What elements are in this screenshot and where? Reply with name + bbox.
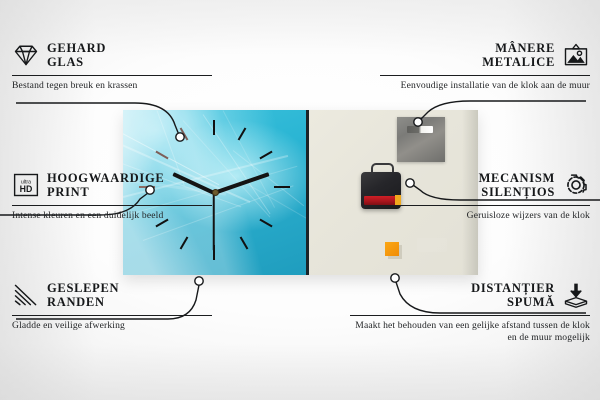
orange-foam-spacer xyxy=(385,242,399,256)
feature-geslepen-randen: GESLEPEN RANDEN Gladde en veilige afwerk… xyxy=(12,278,212,332)
divider xyxy=(380,205,590,206)
feature-distantier-spuma: DISTANȚIER SPUMĂ Maakt het behouden van … xyxy=(350,278,590,344)
feature-manere-metalice: MÂNERE METALICE Eenvoudige installatie v… xyxy=(380,38,590,92)
clock-mark xyxy=(155,151,168,160)
divider xyxy=(350,315,590,316)
svg-text:HD: HD xyxy=(20,184,33,194)
divider xyxy=(12,75,212,76)
infographic-canvas: GEHARD GLAS Bestand tegen breuk en krass… xyxy=(0,0,600,400)
feature-header: MÂNERE METALICE xyxy=(380,38,590,72)
clock-mark xyxy=(238,127,247,140)
gear-icon xyxy=(562,172,590,198)
feature-title: MECANISM SILENȚIOS xyxy=(479,171,555,199)
feature-header: GESLEPEN RANDEN xyxy=(12,278,212,312)
clock-mark xyxy=(240,236,249,249)
feature-header: GEHARD GLAS xyxy=(12,38,212,72)
ultra-hd-icon: ultra HD xyxy=(12,172,40,198)
metal-hanger-plate xyxy=(397,117,445,162)
feature-header: ultra HD HOOGWAARDIGE PRINT xyxy=(12,168,212,202)
feature-header: DISTANȚIER SPUMĂ xyxy=(350,278,590,312)
feature-description: Bestand tegen breuk en krassen xyxy=(12,80,212,92)
feature-title: MÂNERE METALICE xyxy=(482,41,555,69)
beveled-edge-icon xyxy=(12,282,40,308)
clock-mark xyxy=(213,120,215,135)
feature-description: Eenvoudige installatie van de klok aan d… xyxy=(380,80,590,92)
picture-hanger-icon xyxy=(562,42,590,68)
clock-mark xyxy=(259,219,272,228)
clock-second-hand xyxy=(213,193,215,251)
feature-description: Maakt het behouden van een gelijke afsta… xyxy=(350,320,590,344)
hanger-slot xyxy=(407,126,433,133)
feature-description: Geruisloze wijzers van de klok xyxy=(380,210,590,222)
feature-mecanism-silentios: MECANISM SILENȚIOS Geruisloze wijzers va… xyxy=(380,168,590,222)
feature-hoogwaardige-print: ultra HD HOOGWAARDIGE PRINT Intense kleu… xyxy=(12,168,212,222)
feature-description: Gladde en veilige afwerking xyxy=(12,320,212,332)
feature-header: MECANISM SILENȚIOS xyxy=(380,168,590,202)
clock-pivot xyxy=(212,189,219,196)
divider xyxy=(380,75,590,76)
feature-description: Intense kleuren en een duidelijk beeld xyxy=(12,210,212,222)
mechanism-detail xyxy=(417,238,447,252)
clock-mark xyxy=(274,186,290,188)
feature-title: HOOGWAARDIGE PRINT xyxy=(47,171,164,199)
clock-mark xyxy=(180,236,189,249)
feature-title: GESLEPEN RANDEN xyxy=(47,281,119,309)
divider xyxy=(12,315,212,316)
clock-mark xyxy=(180,127,189,140)
feature-title: GEHARD GLAS xyxy=(47,41,106,69)
feature-gehard-glas: GEHARD GLAS Bestand tegen breuk en krass… xyxy=(12,38,212,92)
divider xyxy=(12,205,212,206)
feature-title: DISTANȚIER SPUMĂ xyxy=(471,281,555,309)
diamond-icon xyxy=(12,42,40,68)
foam-spacer-icon xyxy=(562,282,590,308)
